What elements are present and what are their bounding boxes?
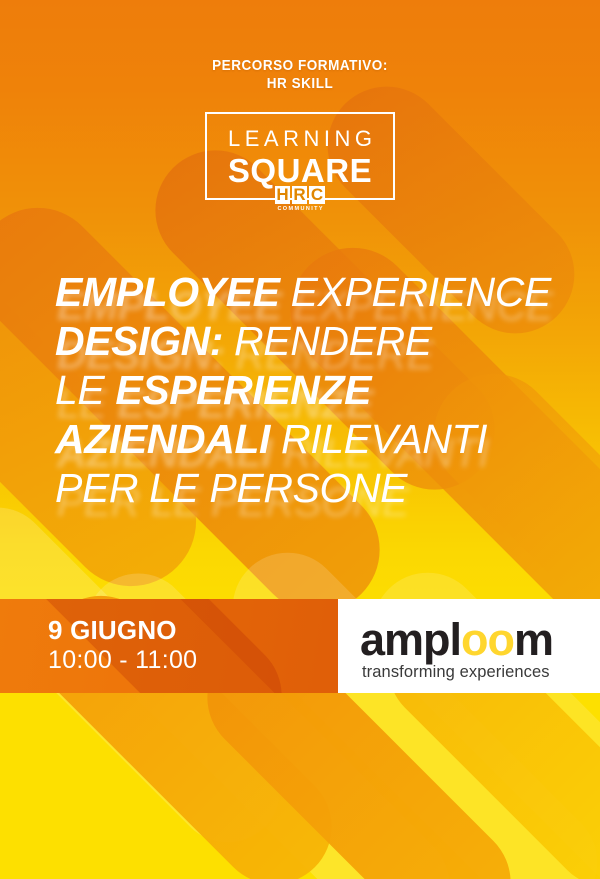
headline-line-text: LE ESPERIENZE bbox=[55, 367, 371, 413]
amploom-part-oo: oo bbox=[461, 614, 514, 665]
hrc-letters: H R C bbox=[275, 186, 325, 204]
sponsor-logo-panel: amploom transforming experiences bbox=[338, 599, 600, 693]
hrc-subtitle: COMMUNITY bbox=[276, 206, 324, 212]
amploom-part-3: m bbox=[514, 614, 553, 665]
hrc-community-logo: H R C COMMUNITY bbox=[0, 186, 600, 212]
page-title: EMPLOYEE EXPERIENCEEMPLOYEE EXPERIENCEDE… bbox=[55, 268, 575, 513]
headline-line: EMPLOYEE EXPERIENCEEMPLOYEE EXPERIENCE bbox=[55, 268, 575, 317]
headline-line-text: DESIGN: RENDERE bbox=[55, 318, 432, 364]
hrc-letter-c: C bbox=[309, 186, 325, 204]
eyebrow-text: PERCORSO FORMATIVO: HR SKILL bbox=[30, 57, 570, 94]
headline-line-text: PER LE PERSONE bbox=[55, 465, 407, 511]
event-time: 10:00 - 11:00 bbox=[48, 645, 197, 675]
event-datetime: 9 GIUGNO 10:00 - 11:00 bbox=[48, 615, 197, 675]
headline-line: DESIGN: RENDEREDESIGN: RENDERE bbox=[55, 317, 575, 366]
hrc-letter-r: R bbox=[292, 186, 307, 204]
eyebrow-line-1: PERCORSO FORMATIVO: bbox=[30, 57, 570, 75]
amploom-tagline: transforming experiences bbox=[362, 663, 550, 681]
logo-word-square: SQUARE bbox=[207, 154, 393, 187]
headline-line: PER LE PERSONEPER LE PERSONE bbox=[55, 464, 575, 513]
event-poster: PERCORSO FORMATIVO: HR SKILL LEARNING SQ… bbox=[0, 0, 600, 879]
headline-line: LE ESPERIENZELE ESPERIENZE bbox=[55, 366, 575, 415]
hrc-letter-h: H bbox=[275, 186, 290, 204]
event-date: 9 GIUGNO bbox=[48, 615, 197, 645]
headline-line: AZIENDALI RILEVANTIAZIENDALI RILEVANTI bbox=[55, 415, 575, 464]
amploom-part-1: ampl bbox=[360, 614, 461, 665]
amploom-wordmark: amploom bbox=[360, 617, 553, 662]
eyebrow-line-2: HR SKILL bbox=[30, 75, 570, 93]
headline-line-text: AZIENDALI RILEVANTI bbox=[55, 416, 487, 462]
logo-word-learning: LEARNING bbox=[207, 128, 393, 150]
headline-line-text: EMPLOYEE EXPERIENCE bbox=[55, 269, 551, 315]
